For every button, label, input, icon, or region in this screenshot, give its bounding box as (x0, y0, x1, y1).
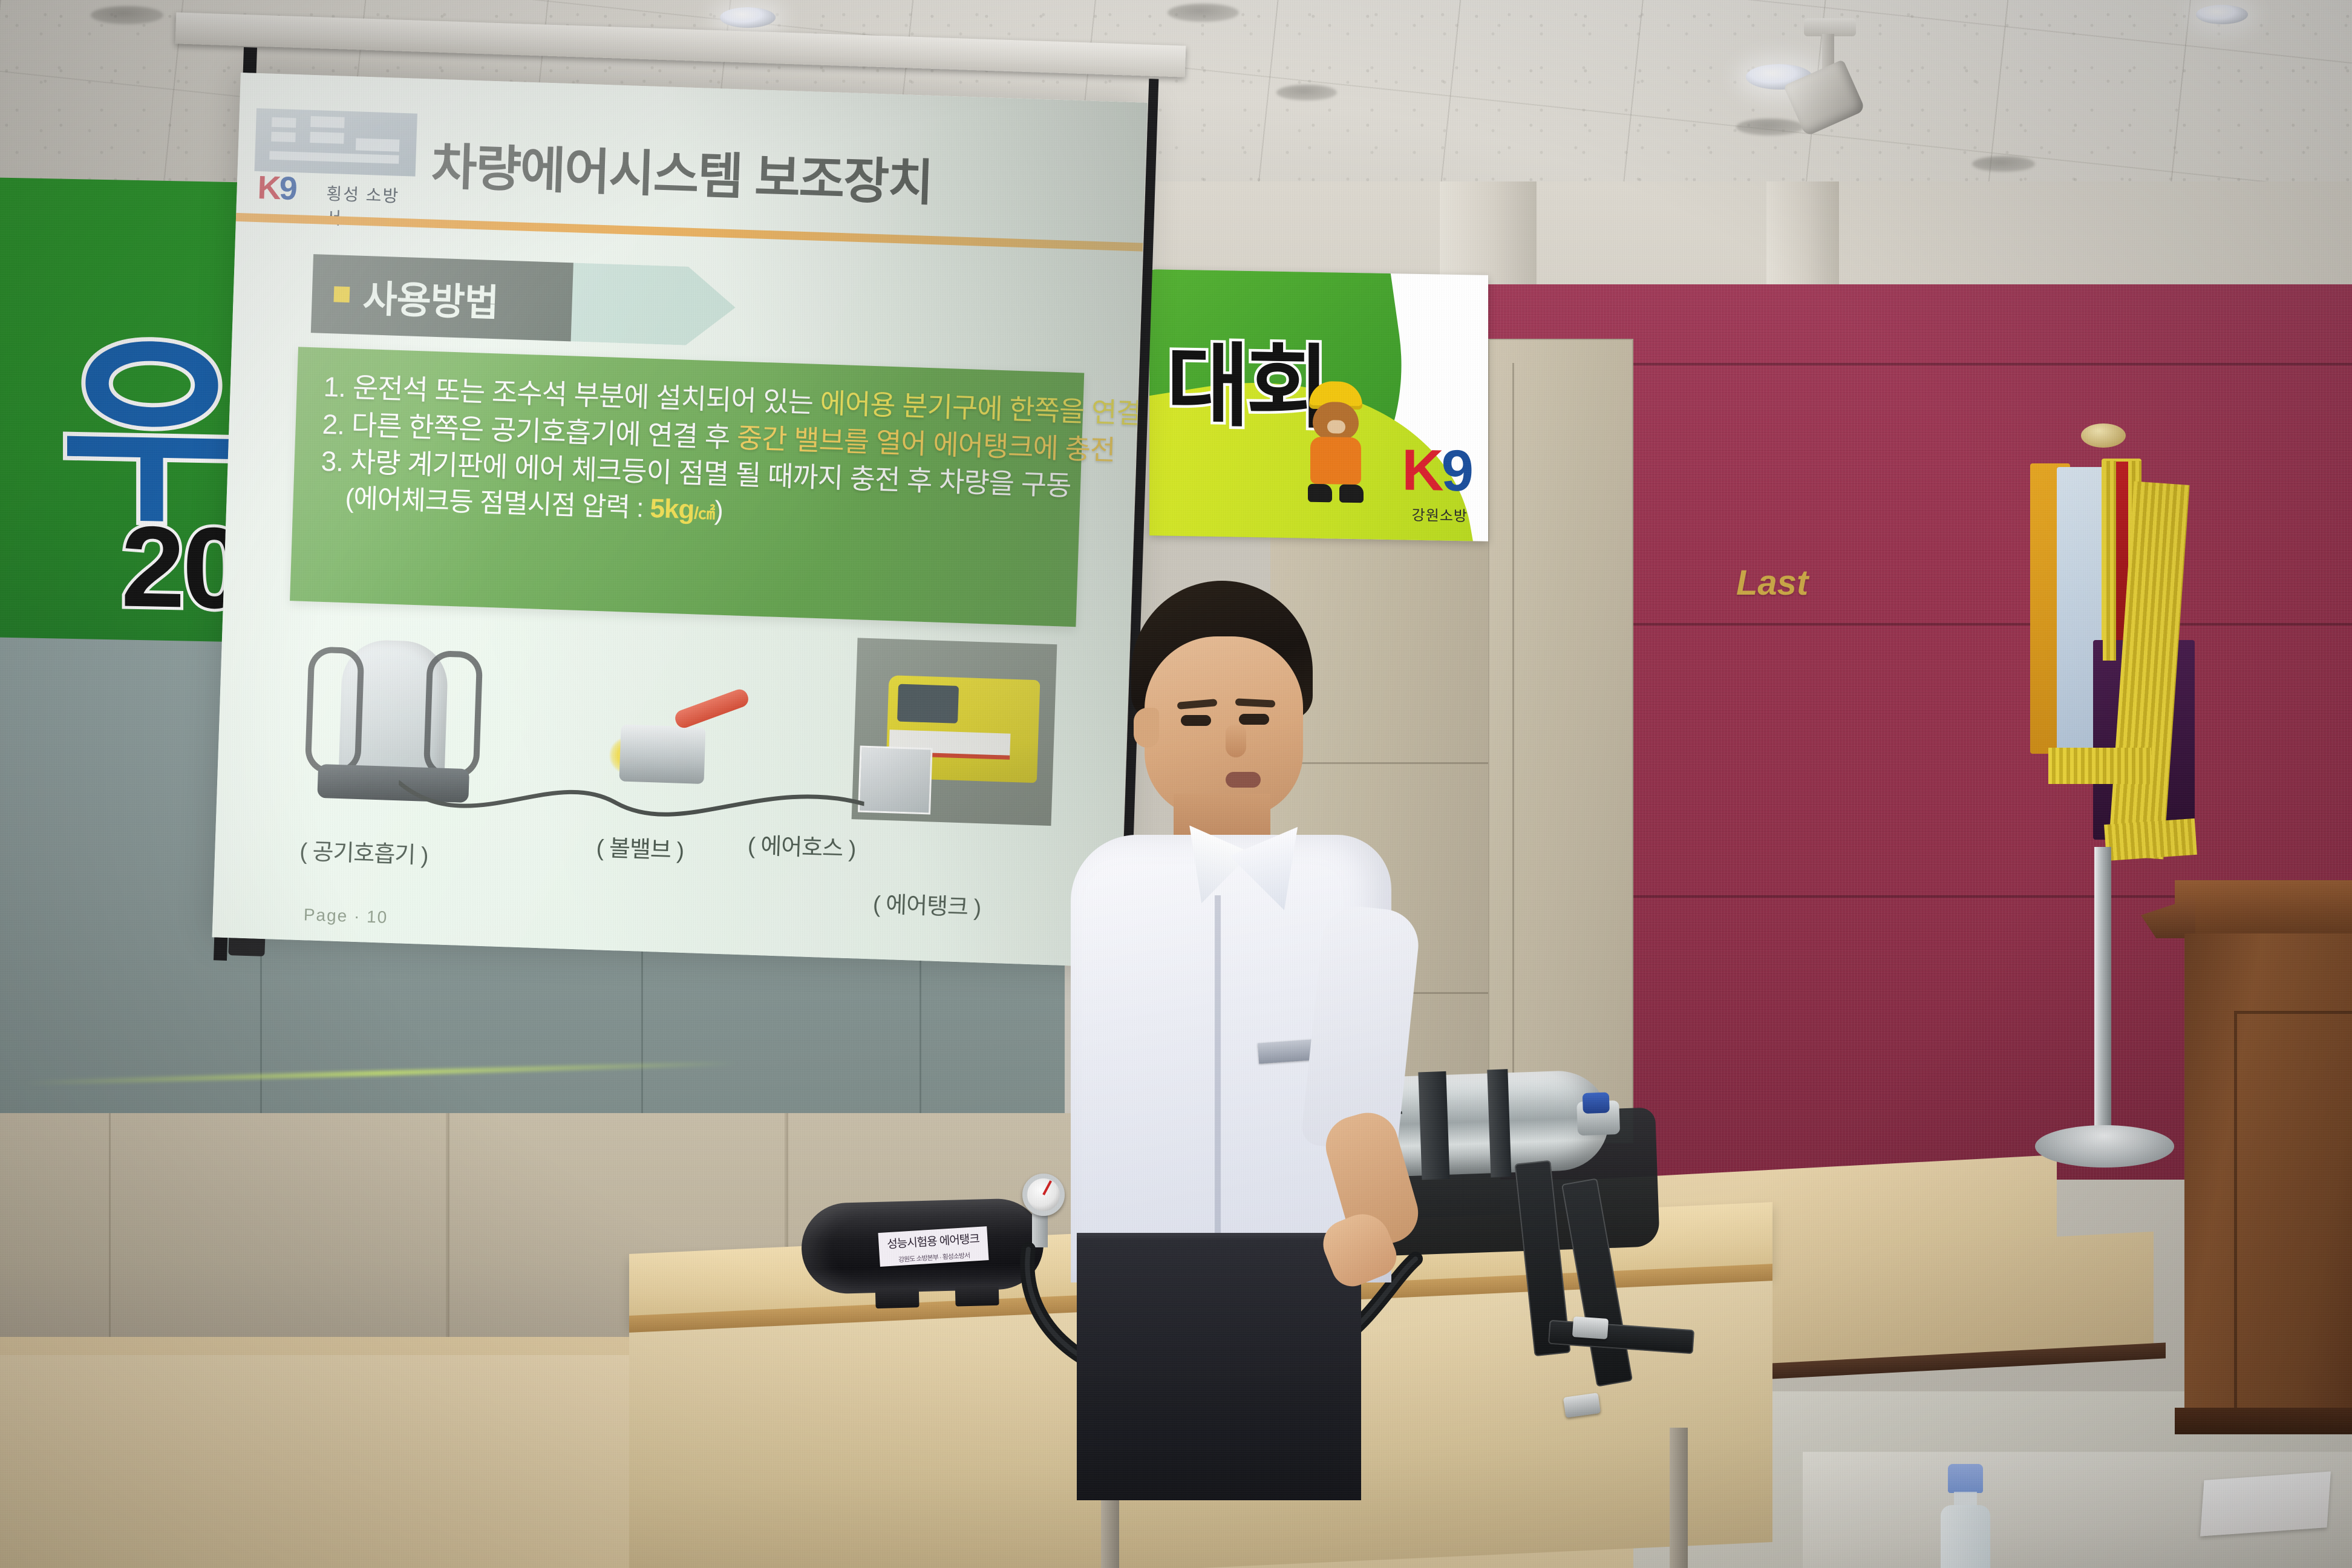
ceiling-vent-icon (1276, 85, 1337, 100)
truck-detail-inset (858, 746, 933, 815)
presenter-trousers (1077, 1240, 1361, 1500)
scba-buckle-icon (1572, 1316, 1609, 1339)
presenter-eye (1181, 715, 1211, 726)
ceiling-downlight-icon (2196, 5, 2248, 24)
caption-scba: ( 공기호흡기 ) (299, 832, 429, 870)
ceiling-vent-icon (91, 6, 163, 24)
ball-valve-diagram-image (604, 696, 734, 791)
scba-diagram-image (295, 632, 500, 814)
door-panel[interactable] (1488, 339, 1633, 1143)
flag-pole (2094, 847, 2111, 1137)
ceiling-vent-icon (1168, 4, 1239, 22)
slide-k9-logo: K9 (257, 169, 296, 207)
caption-ball-valve: ( 볼밸브 ) (596, 829, 684, 865)
slide-org-logo: K9 횡성 소방서 (253, 108, 417, 204)
instructions-box: 1. 운전석 또는 조수석 부분에 설치되어 있는 에어용 분기구에 한쪽을 연… (290, 347, 1084, 627)
title-underline-rule (236, 213, 1143, 252)
event-banner-right: 대회 K9 강원소방 (1149, 269, 1488, 541)
table-leg (1670, 1428, 1688, 1568)
station-building-photo (255, 108, 417, 177)
slide-title: 차량에어시스템 보조장치 (430, 126, 933, 215)
air-tank-label: 성능시험용 에어탱크 강원도 소방본부 · 횡성소방서 (878, 1226, 988, 1267)
presenter-mouth (1226, 772, 1261, 788)
section-header: 사용방법 (311, 254, 737, 347)
slide-page-footer: Page · 10 (303, 905, 388, 927)
name-plate (2200, 1471, 2331, 1536)
flag-finial-icon (2081, 423, 2126, 448)
presenter-nose (1226, 725, 1246, 757)
bullet-square-icon (334, 286, 350, 302)
presenter (1053, 581, 1440, 1270)
section-chip: 사용방법 (311, 254, 573, 341)
caption-air-tank: ( 에어탱크 ) (872, 885, 981, 922)
k9-logo: K9 (1402, 437, 1471, 505)
presenter-eye (1239, 714, 1269, 725)
caption-air-hose: ( 에어호스 ) (747, 827, 856, 864)
presenter-face (1145, 636, 1303, 818)
wall-script-decal: Last (1736, 563, 1808, 603)
flag-base (2035, 1125, 2174, 1168)
flag-cloth-group (2030, 446, 2181, 900)
k9-logo-subtitle: 강원소방 (1412, 503, 1468, 526)
photo-scene: Last 우수 201 대회 K9 강원소방 (0, 0, 2352, 1568)
presentation-slide: K9 횡성 소방서 차량에어시스템 보조장치 사용방법 1. 운전석 또는 조수… (212, 73, 1148, 967)
door-seam (1512, 363, 1514, 1119)
ceremonial-flag-stand (1990, 423, 2220, 1228)
projection-screen: K9 횡성 소방서 차량에어시스템 보조장치 사용방법 1. 운전석 또는 조수… (212, 73, 1148, 967)
fire-truck-photo (852, 638, 1057, 826)
firefighter-mascot-icon (1301, 381, 1373, 503)
ceiling-vent-icon (1972, 156, 2035, 172)
track-spotlight-icon (1791, 18, 1869, 133)
ceiling-downlight-icon (720, 7, 776, 28)
presenter-ear (1134, 708, 1159, 748)
presenter-shirt-placket (1215, 895, 1221, 1258)
water-bottle[interactable] (1936, 1464, 1994, 1568)
section-label: 사용방법 (362, 268, 499, 327)
